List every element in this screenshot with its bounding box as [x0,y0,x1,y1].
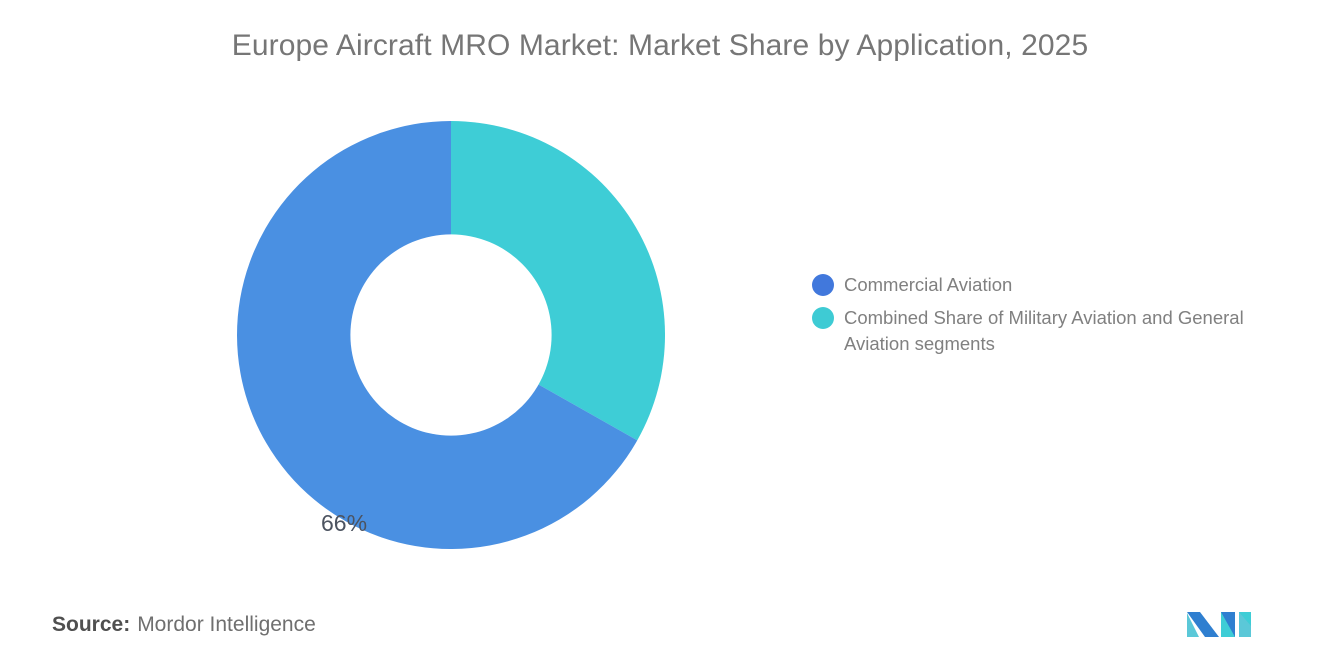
legend-item-label: Combined Share of Military Aviation and … [844,305,1256,357]
legend-item-commercial-aviation[interactable]: Commercial Aviation [812,272,1282,298]
donut-chart: 66% [237,121,665,549]
legend-swatch-icon [812,307,834,329]
legend-item-label: Commercial Aviation [844,272,1012,298]
donut-hole [350,234,551,435]
brand-logo-svg [1185,601,1253,641]
chart-legend: Commercial Aviation Combined Share of Mi… [812,272,1282,364]
source-attribution: Source:Mordor Intelligence [52,613,316,637]
legend-item-combined-military-general-aviation[interactable]: Combined Share of Military Aviation and … [812,305,1282,357]
legend-swatch-icon [812,274,834,296]
mordor-intelligence-logo-icon [1185,601,1253,641]
source-label: Source: [52,613,130,636]
donut-chart-svg [237,121,665,549]
source-value: Mordor Intelligence [137,613,316,636]
page-title: Europe Aircraft MRO Market: Market Share… [0,29,1320,63]
slice-value-label-commercial-aviation: 66% [321,510,367,537]
